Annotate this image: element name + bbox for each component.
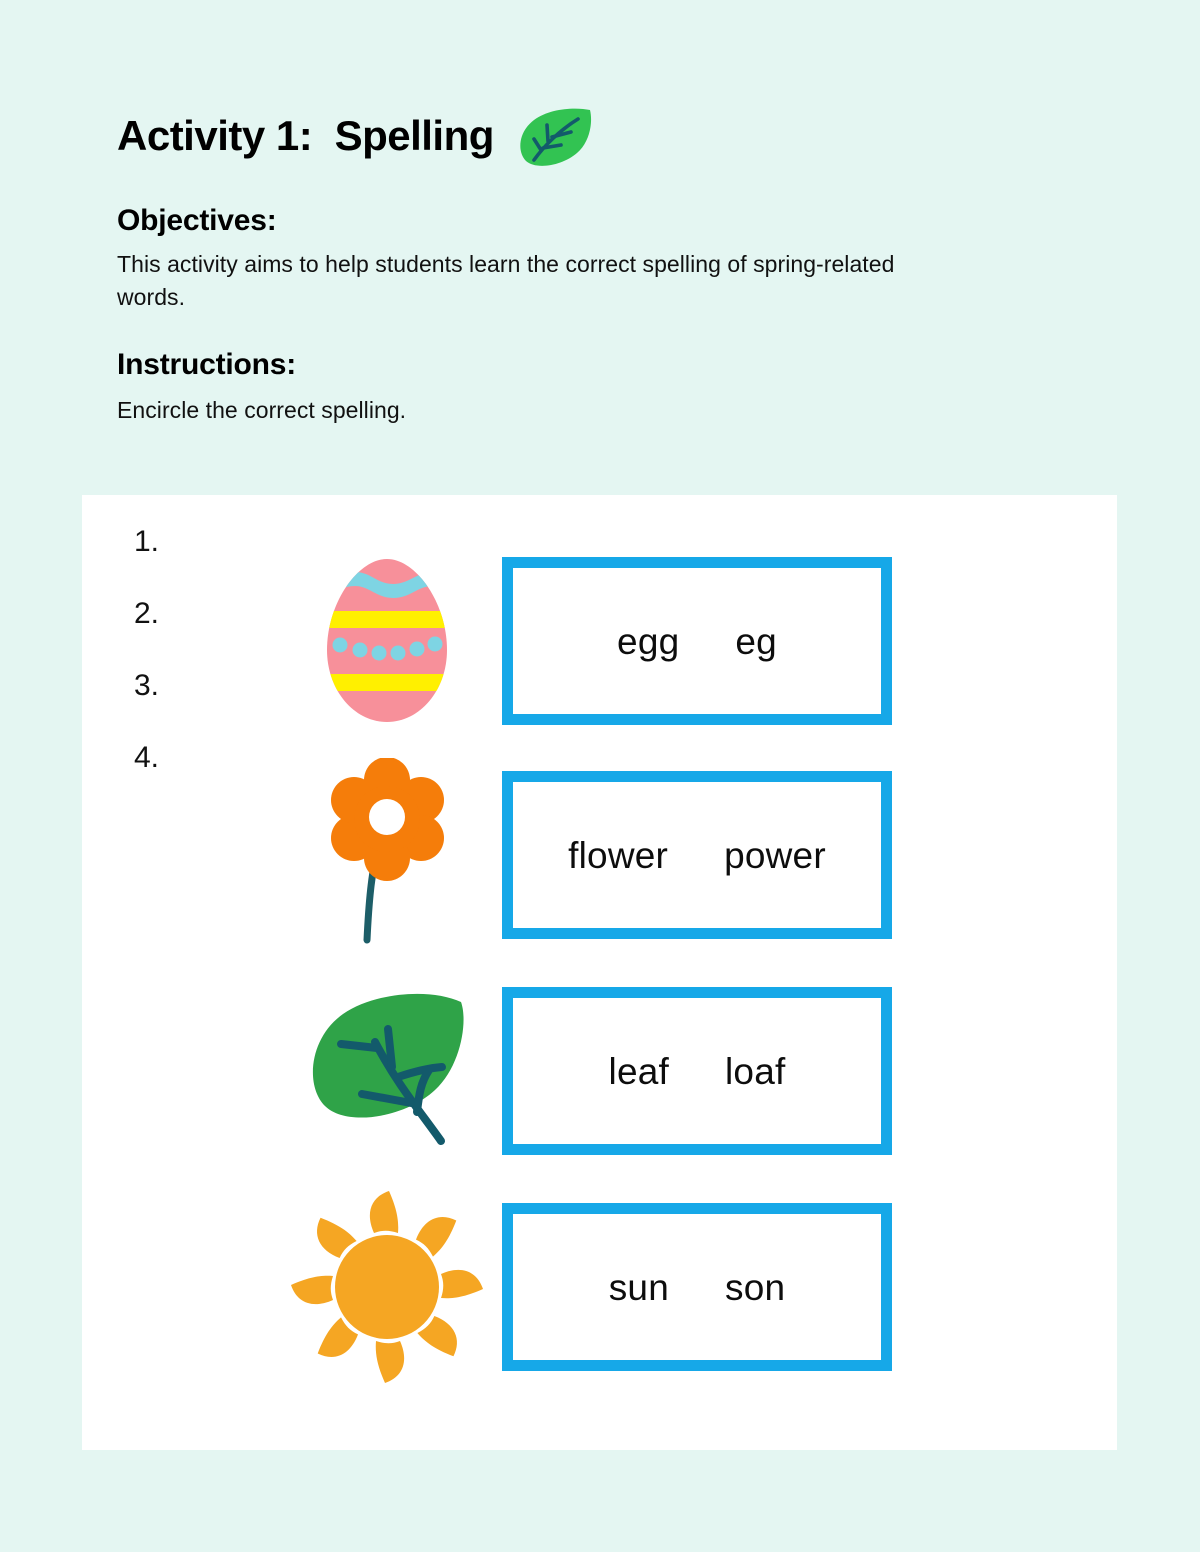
flower-icon <box>317 758 457 953</box>
answer-box-1[interactable]: egg eg <box>502 557 892 725</box>
answer-choice[interactable]: power <box>724 837 826 874</box>
objectives-block: Objectives: This activity aims to help s… <box>117 204 1017 315</box>
answer-choice[interactable]: flower <box>568 837 668 874</box>
instructions-text: Encircle the correct spelling. <box>117 394 917 427</box>
answer-choice[interactable]: son <box>725 1269 785 1306</box>
page-title: Activity 1: Spelling <box>117 113 494 159</box>
flower-illustration <box>272 755 502 955</box>
easter-egg-illustration <box>272 541 502 741</box>
answer-choice[interactable]: leaf <box>609 1053 669 1090</box>
question-row-2: flower power <box>272 755 1112 955</box>
question-row-1: egg eg <box>272 541 1112 741</box>
worksheet-header: Activity 1: Spelling Objectives: This ac… <box>117 104 1017 427</box>
leaf-icon <box>301 986 473 1156</box>
instructions-heading: Instructions: <box>117 348 1017 382</box>
easter-egg-icon <box>321 556 453 726</box>
title-row: Activity 1: Spelling <box>117 104 1017 168</box>
objectives-heading: Objectives: <box>117 204 1017 238</box>
instructions-block: Instructions: Encircle the correct spell… <box>117 348 1017 427</box>
answer-box-2[interactable]: flower power <box>502 771 892 939</box>
sun-icon <box>289 1189 485 1385</box>
question-row-3: leaf loaf <box>272 971 1112 1171</box>
answer-choice[interactable]: loaf <box>725 1053 785 1090</box>
worksheet-card: 1. 2. 3. 4. <box>82 495 1117 1450</box>
objectives-text: This activity aims to help students lear… <box>117 248 917 315</box>
leaf-icon <box>516 106 594 168</box>
question-rows: egg eg <box>82 495 1117 1450</box>
answer-choice[interactable]: eg <box>735 623 777 660</box>
answer-choice[interactable]: egg <box>617 623 679 660</box>
answer-choice[interactable]: sun <box>609 1269 669 1306</box>
question-row-4: sun son <box>272 1187 1112 1387</box>
answer-box-3[interactable]: leaf loaf <box>502 987 892 1155</box>
leaf-illustration <box>272 971 502 1171</box>
sun-illustration <box>272 1187 502 1387</box>
answer-box-4[interactable]: sun son <box>502 1203 892 1371</box>
